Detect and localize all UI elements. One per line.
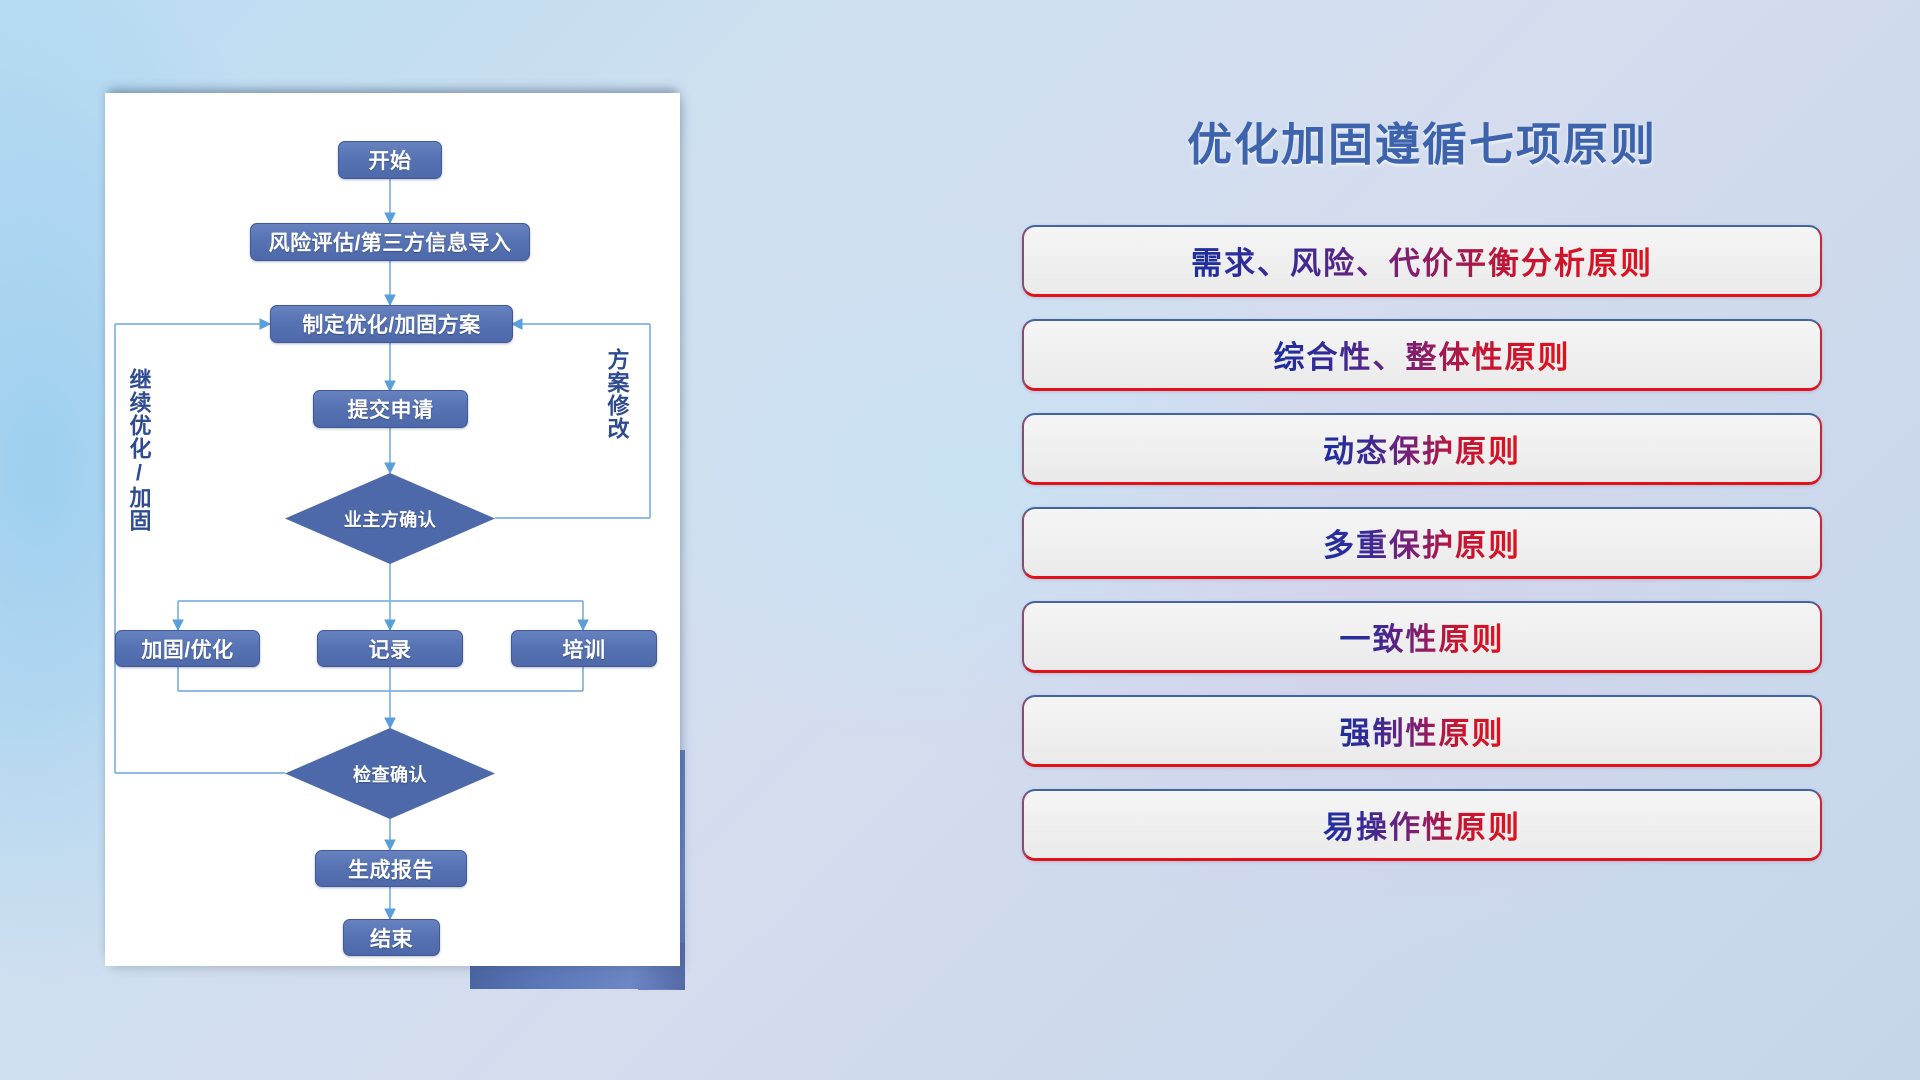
flow-node-risk-assessment[interactable]: 风险评估/第三方信息导入 — [250, 223, 530, 261]
flowchart-card: 开始 风险评估/第三方信息导入 制定优化/加固方案 提交申请 业主方确认 加固/… — [105, 93, 680, 966]
flow-node-label: 加固/优化 — [141, 634, 233, 664]
flow-node-submit-application[interactable]: 提交申请 — [313, 390, 468, 428]
principle-item[interactable]: 多重保护原则 — [1022, 507, 1822, 579]
principles-list: 需求、风险、代价平衡分析原则 综合性、整体性原则 动态保护原则 多重保护原则 一… — [1022, 225, 1822, 861]
principle-item[interactable]: 需求、风险、代价平衡分析原则 — [1022, 225, 1822, 297]
principle-label: 强制性原则 — [1340, 708, 1505, 753]
flow-node-label: 结束 — [370, 923, 413, 953]
flow-node-reinforce-optimize[interactable]: 加固/优化 — [115, 630, 260, 667]
flow-node-label: 开始 — [369, 145, 412, 175]
principle-label: 易操作性原则 — [1323, 802, 1521, 847]
edge-label-continue-optimize: 继续优化/加固 — [127, 368, 149, 532]
principle-label: 多重保护原则 — [1323, 520, 1521, 565]
flow-node-label: 提交申请 — [348, 394, 434, 424]
flow-node-label: 生成报告 — [348, 854, 434, 884]
principle-item[interactable]: 动态保护原则 — [1022, 413, 1822, 485]
principle-item[interactable]: 一致性原则 — [1022, 601, 1822, 673]
principles-panel: 优化加固遵循七项原则 需求、风险、代价平衡分析原则 综合性、整体性原则 动态保护… — [1022, 108, 1822, 861]
flow-node-record[interactable]: 记录 — [317, 630, 463, 667]
principle-label: 需求、风险、代价平衡分析原则 — [1191, 238, 1653, 283]
flow-node-start[interactable]: 开始 — [338, 141, 442, 179]
flow-node-label: 培训 — [563, 634, 606, 664]
flow-node-label: 业主方确认 — [344, 506, 437, 532]
principle-item[interactable]: 综合性、整体性原则 — [1022, 319, 1822, 391]
edge-label-plan-revision: 方案修改 — [605, 348, 627, 440]
flow-node-owner-confirm[interactable]: 业主方确认 — [285, 473, 495, 564]
principle-label: 综合性、整体性原则 — [1274, 332, 1571, 377]
flow-node-label: 检查确认 — [353, 761, 427, 787]
flow-node-generate-report[interactable]: 生成报告 — [315, 850, 467, 887]
flow-node-label: 制定优化/加固方案 — [302, 309, 480, 339]
flow-node-make-plan[interactable]: 制定优化/加固方案 — [270, 305, 513, 343]
principle-label: 一致性原则 — [1340, 614, 1505, 659]
slide-canvas: 开始 风险评估/第三方信息导入 制定优化/加固方案 提交申请 业主方确认 加固/… — [0, 0, 1920, 1080]
flow-node-check-confirm[interactable]: 检查确认 — [285, 728, 495, 819]
principle-label: 动态保护原则 — [1323, 426, 1521, 471]
flow-node-end[interactable]: 结束 — [343, 919, 440, 956]
flow-node-training[interactable]: 培训 — [511, 630, 657, 667]
principle-item[interactable]: 强制性原则 — [1022, 695, 1822, 767]
flow-node-label: 风险评估/第三方信息导入 — [269, 227, 512, 257]
flow-node-label: 记录 — [369, 634, 412, 664]
principles-title: 优化加固遵循七项原则 — [1022, 108, 1822, 173]
principle-item[interactable]: 易操作性原则 — [1022, 789, 1822, 861]
